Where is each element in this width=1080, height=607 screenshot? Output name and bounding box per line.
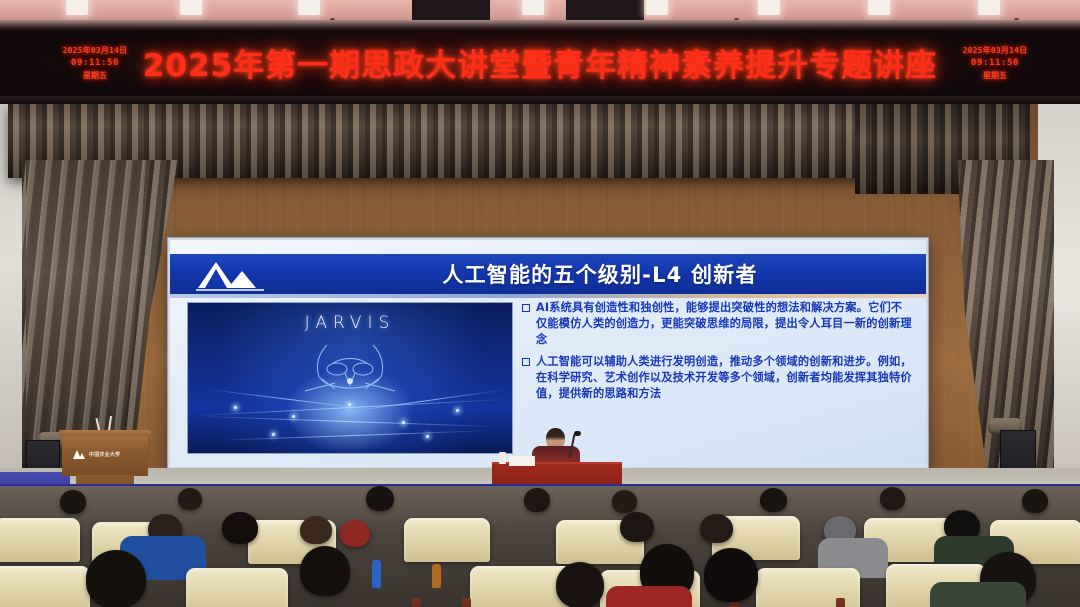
network-line <box>198 416 498 427</box>
audience-member-body <box>930 582 1026 607</box>
ceiling-light-panel <box>522 0 544 15</box>
led-clock-left-weekday: 星期五 <box>83 70 107 81</box>
ceiling-light-panel <box>66 0 88 15</box>
slide-title-underline <box>170 294 926 298</box>
ceiling-light-panel <box>298 0 320 15</box>
slide-bullet-item: AI系统具有创造性和独创性，能够提出突破性的想法和解决方案。它们不仅能模仿人类的… <box>522 300 912 349</box>
audience-member <box>86 550 146 607</box>
audience-member <box>178 488 202 510</box>
podium-front-panel: 中国农业大学 <box>62 436 148 476</box>
podium-plate-text: 中国农业大学 <box>89 451 120 458</box>
seat-leg <box>462 598 471 607</box>
led-clock-right: 2025年03月14日 09:11:50 星期五 <box>952 40 1038 86</box>
network-node <box>292 415 295 418</box>
ceiling <box>0 0 1080 22</box>
audience-member <box>1022 489 1048 513</box>
audience-member <box>524 488 550 512</box>
banner-bottom-strip <box>0 96 1080 104</box>
auditorium-seat <box>0 566 90 607</box>
audience-member <box>700 514 733 543</box>
audience-member <box>620 512 654 542</box>
network-node <box>348 403 351 406</box>
slide-image-jarvis: JARVIS <box>187 302 513 454</box>
led-banner-headline: 2025年第一期思政大讲堂暨青年精神素养提升专题讲座 <box>140 38 940 86</box>
water-cup <box>499 452 506 464</box>
audience-member <box>60 490 86 514</box>
audience-member <box>222 512 258 544</box>
auditorium-seat <box>186 568 288 607</box>
ceiling-light-panel <box>180 0 202 15</box>
ceiling-light-panel <box>758 0 780 15</box>
audience-member <box>556 562 604 607</box>
seat-leg <box>412 598 421 607</box>
slide-bullet-list: AI系统具有创造性和独创性，能够提出突破性的想法和解决方案。它们不仅能模仿人类的… <box>522 300 912 407</box>
table-papers <box>509 456 535 466</box>
audience-member <box>340 520 370 547</box>
network-node <box>402 421 405 424</box>
ceiling-light-panel <box>868 0 890 15</box>
slide-bullet-text: AI系统具有创造性和独创性，能够提出突破性的想法和解决方案。它们不仅能模仿人类的… <box>536 300 912 349</box>
network-line <box>218 430 488 440</box>
network-node <box>234 406 237 409</box>
water-bottle <box>432 564 441 588</box>
bullet-square-icon <box>522 358 530 366</box>
jarvis-wordmark: JARVIS <box>188 313 512 333</box>
led-clock-left: 2025年03月14日 09:11:50 星期五 <box>52 40 138 86</box>
microphone-icon <box>574 431 581 436</box>
audience-member <box>300 516 332 544</box>
bullet-square-icon <box>522 304 530 312</box>
ceiling-light-panel <box>646 0 668 15</box>
auditorium-scene: 2025年03月14日 09:11:50 星期五 2025年第一期思政大讲堂暨青… <box>0 0 1080 607</box>
seat-leg <box>836 598 845 607</box>
audience-member <box>760 488 787 512</box>
microphone-icon <box>108 416 112 431</box>
slide-bullet-text: 人工智能可以辅助人类进行发明创造，推动多个领域的创新和进步。例如，在科学研究、艺… <box>536 354 912 403</box>
ceiling-light-panel <box>978 0 1000 15</box>
audience-member <box>704 548 758 602</box>
neural-face-icon <box>275 339 425 409</box>
network-node <box>272 433 275 436</box>
ceiling-recess <box>412 0 490 20</box>
slide-title: 人工智能的五个级别-L4 创新者 <box>170 259 910 289</box>
slide-title-bar: 人工智能的五个级别-L4 创新者 <box>170 254 926 294</box>
led-clock-right-weekday: 星期五 <box>983 70 1007 81</box>
audience-area <box>0 486 1080 607</box>
led-clock-right-time: 09:11:50 <box>971 58 1019 68</box>
auditorium-seat <box>404 518 490 562</box>
audience-member <box>300 546 350 596</box>
auditorium-seat <box>0 518 80 562</box>
audience-member <box>880 487 905 510</box>
audience-member <box>612 490 637 513</box>
mountain-peak-logo-icon <box>72 449 85 460</box>
ceiling-recess <box>566 0 644 20</box>
podium-name-plate: 中国农业大学 <box>72 447 144 461</box>
led-clock-right-date: 2025年03月14日 <box>963 45 1028 56</box>
network-node <box>426 435 429 438</box>
led-banner: 2025年03月14日 09:11:50 星期五 2025年第一期思政大讲堂暨青… <box>0 28 1080 100</box>
water-bottle <box>372 560 381 588</box>
audience-member <box>366 486 394 511</box>
led-clock-left-time: 09:11:50 <box>71 58 119 68</box>
slide-bullet-item: 人工智能可以辅助人类进行发明创造，推动多个领域的创新和进步。例如，在科学研究、艺… <box>522 354 912 403</box>
audience-member-body <box>606 586 692 607</box>
network-node <box>456 409 459 412</box>
led-clock-left-date: 2025年03月14日 <box>63 45 128 56</box>
